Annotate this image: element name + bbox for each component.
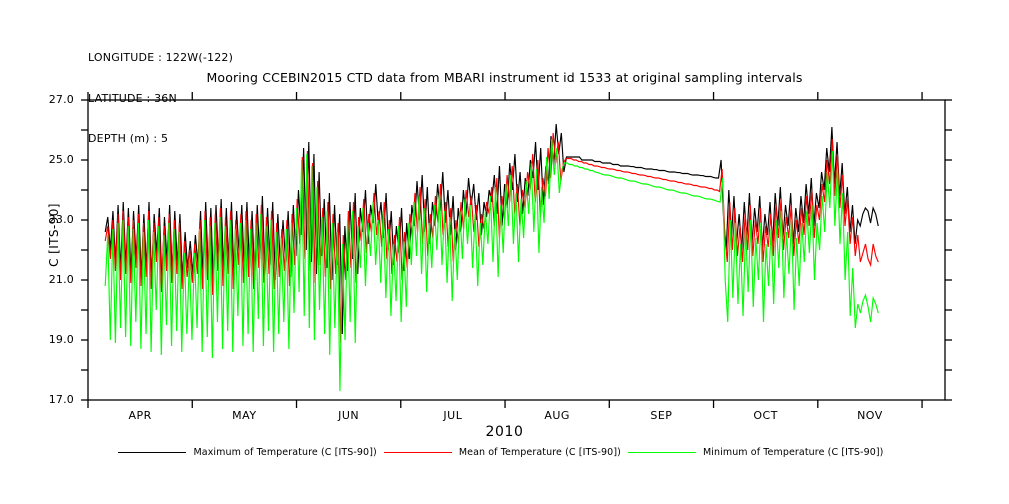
y-tick-label: 17.0	[28, 393, 74, 406]
y-tick-label: 23.0	[28, 213, 74, 226]
legend-item: Mean of Temperature (C [ITS-90])	[384, 447, 628, 458]
legend-swatch	[384, 452, 452, 453]
legend-swatch	[628, 452, 696, 453]
legend-item: Minimum of Temperature (C [ITS-90])	[628, 447, 891, 458]
x-tick-label: JUN	[319, 409, 379, 422]
legend-label: Maximum of Temperature (C [ITS-90])	[193, 447, 376, 458]
legend-label: Mean of Temperature (C [ITS-90])	[459, 447, 621, 458]
x-tick-label: AUG	[527, 409, 587, 422]
chart-legend: Maximum of Temperature (C [ITS-90])Mean …	[0, 447, 1009, 458]
x-tick-label: MAY	[214, 409, 274, 422]
x-axis-title: 2010	[0, 424, 1009, 440]
legend-label: Minimum of Temperature (C [ITS-90])	[703, 447, 884, 458]
legend-item: Maximum of Temperature (C [ITS-90])	[118, 447, 383, 458]
x-tick-label: OCT	[736, 409, 796, 422]
x-tick-label: NOV	[840, 409, 900, 422]
x-tick-label: SEP	[631, 409, 691, 422]
y-tick-label: 21.0	[28, 273, 74, 286]
y-tick-label: 25.0	[28, 153, 74, 166]
chart-page: LONGITUDE : 122W(-122) LATITUDE : 36N DE…	[0, 0, 1009, 504]
x-tick-label: APR	[110, 409, 170, 422]
x-tick-label: JUL	[423, 409, 483, 422]
y-tick-label: 19.0	[28, 333, 74, 346]
legend-swatch	[118, 452, 186, 453]
series-line-minimum	[105, 139, 878, 391]
y-tick-label: 27.0	[28, 93, 74, 106]
